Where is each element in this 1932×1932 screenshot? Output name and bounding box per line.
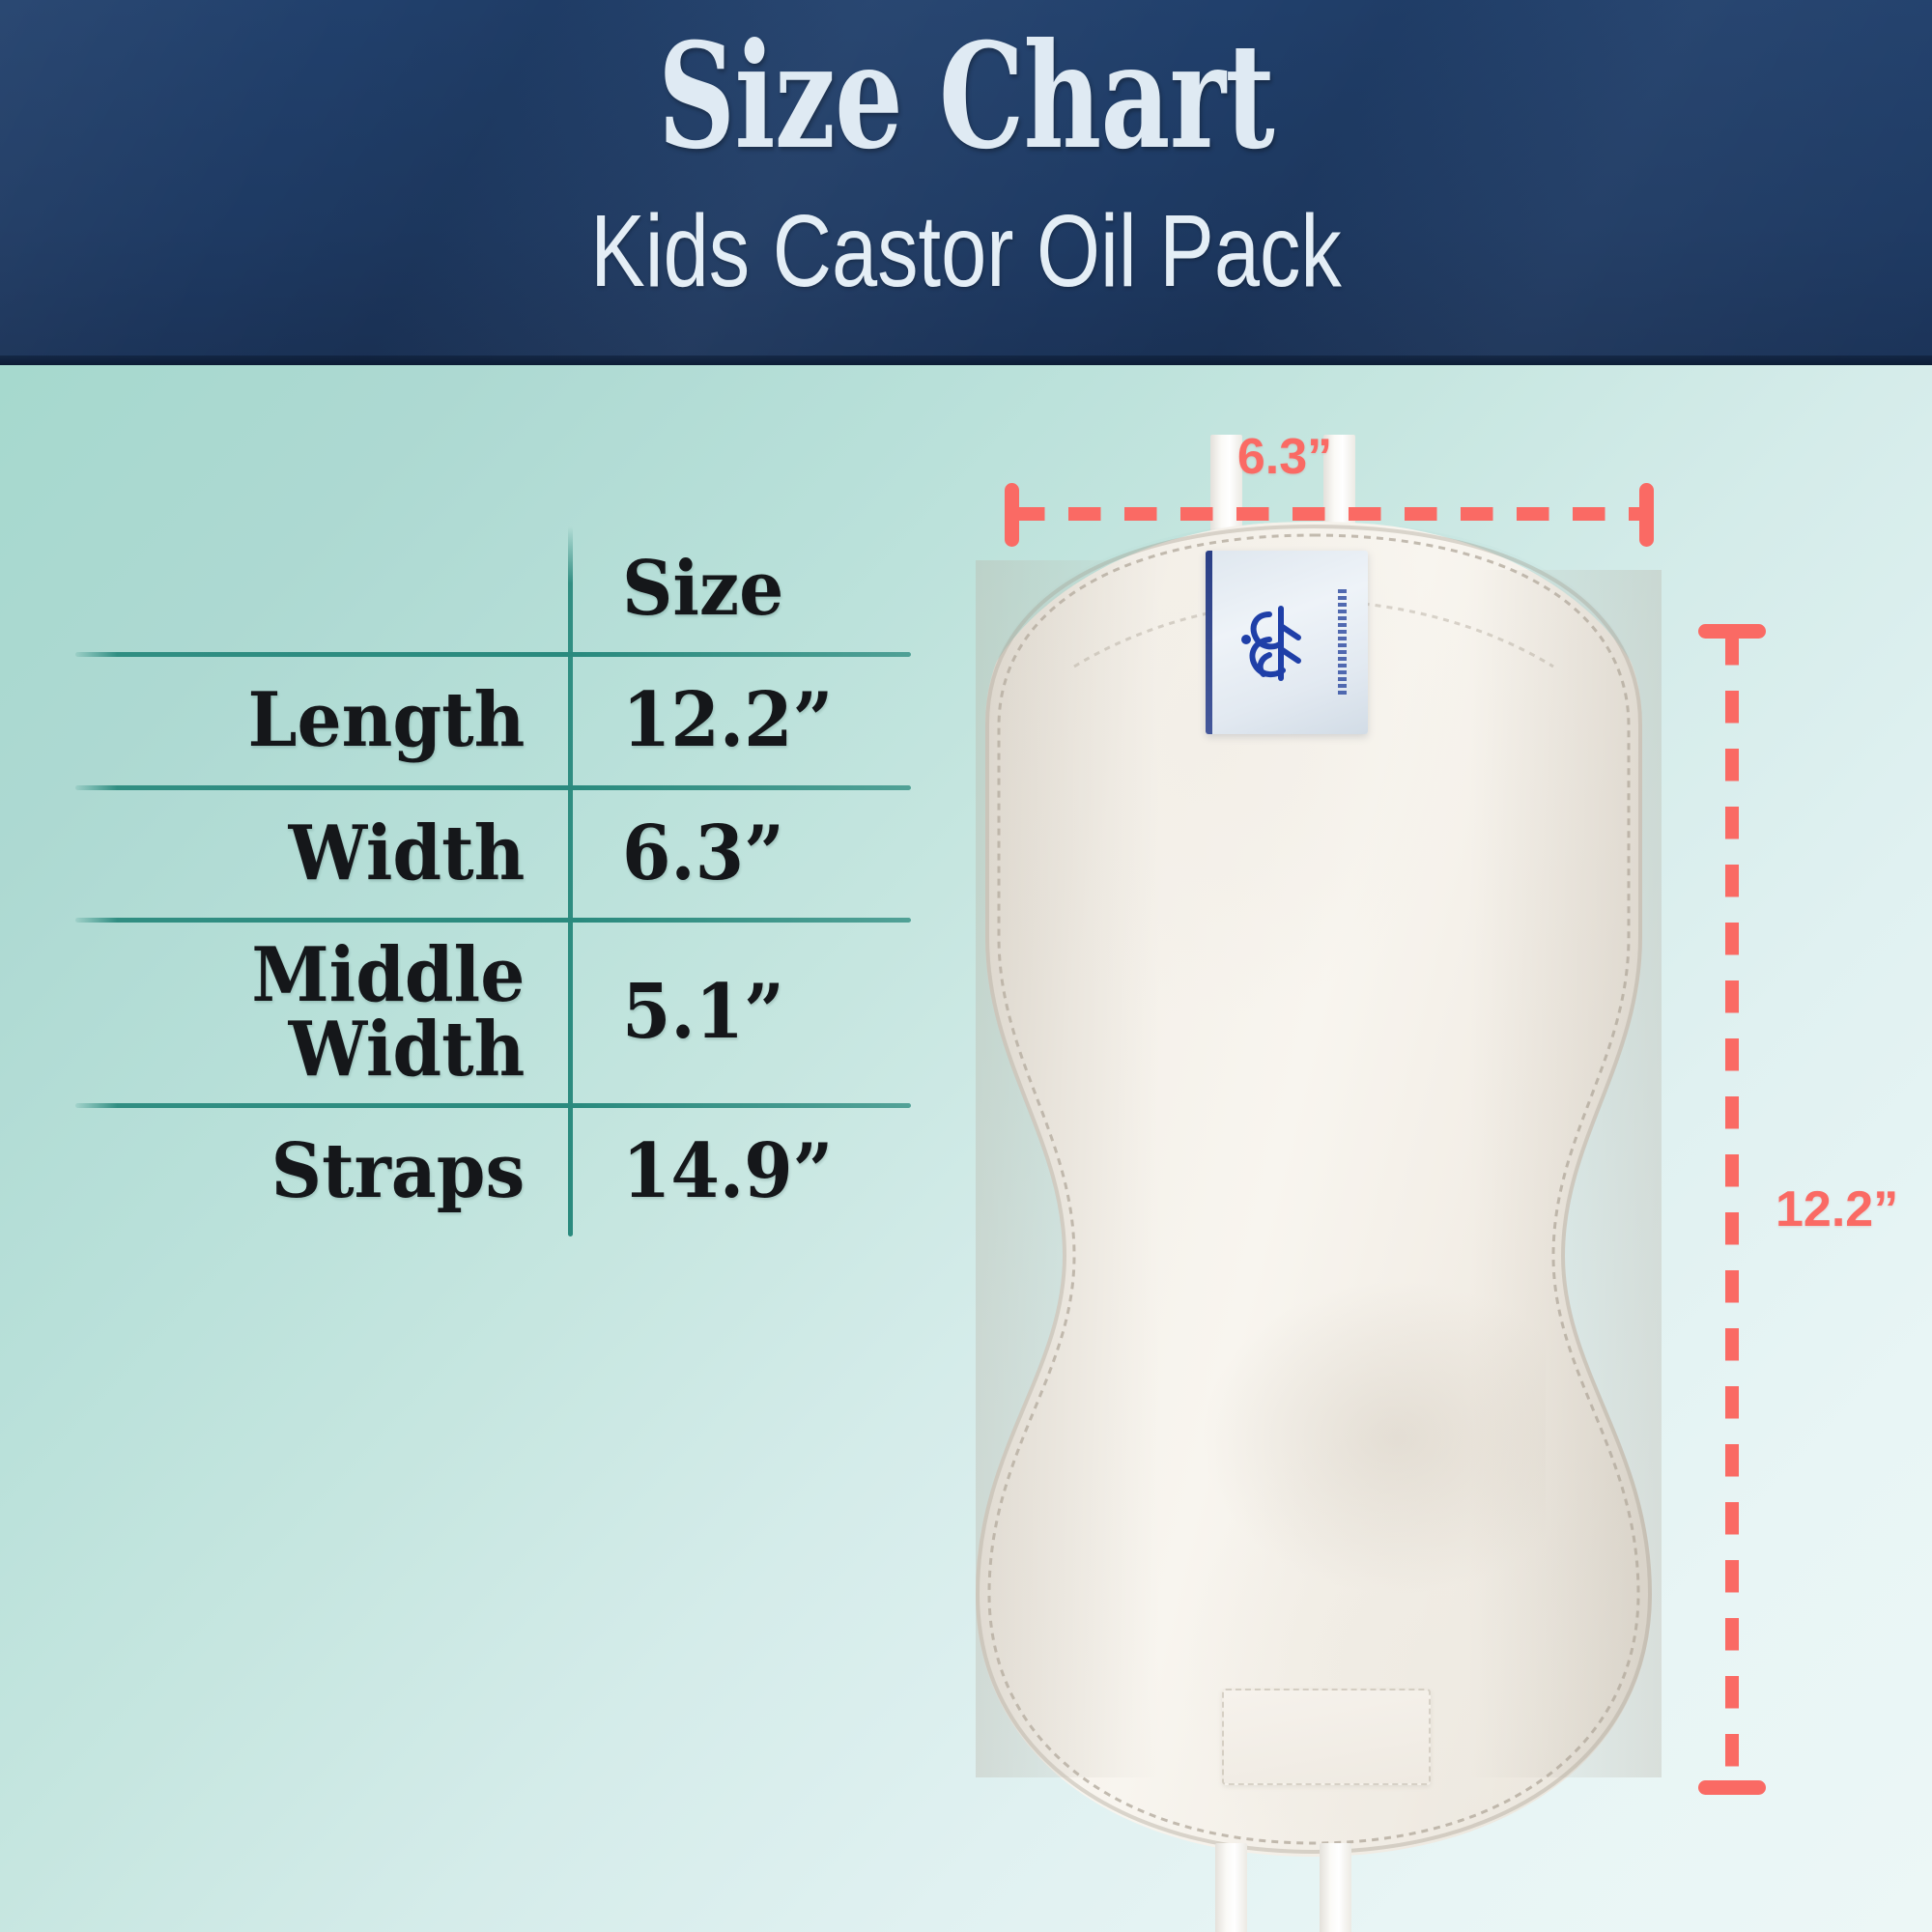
header-banner: Size Chart Kids Castor Oil Pack (0, 0, 1932, 365)
width-dimension-label: 6.3” (1237, 428, 1332, 486)
height-dimension-cap-bottom (1698, 1780, 1766, 1795)
label-line-2: Width (289, 1006, 526, 1094)
table-row-value-middle-width: 5.1” (570, 923, 889, 1103)
strap-bottom-left (1215, 1843, 1247, 1932)
table-row-value-width: 6.3” (570, 790, 889, 918)
table-row-label-width: Width (110, 790, 568, 918)
height-dimension-cap-top (1698, 624, 1766, 639)
strap-bottom-right (1320, 1843, 1351, 1932)
page-title: Size Chart (251, 23, 1681, 171)
size-table: Size Length 12.2” Width 6.3” Middle Widt… (75, 526, 911, 1236)
product-image (966, 425, 1662, 1932)
width-dimension-line (1012, 507, 1646, 521)
table-row-value-straps: 14.9” (570, 1108, 889, 1236)
table-column-header-size: Size (570, 526, 889, 652)
bottom-fabric-patch (1222, 1689, 1431, 1785)
page-subtitle: Kids Castor Oil Pack (193, 198, 1739, 305)
height-dimension-line (1725, 633, 1739, 1782)
table-row-label-middle-width: Middle Width (110, 923, 568, 1103)
crown-monogram-logo-icon (1231, 589, 1323, 697)
table-row-value-length: 12.2” (570, 657, 889, 785)
brand-label-microtext (1338, 589, 1347, 697)
brand-label-tag (1206, 551, 1368, 734)
table-row-label-length: Length (110, 657, 568, 785)
size-chart-page: Size Chart Kids Castor Oil Pack Size Len… (0, 0, 1932, 1932)
table-row-label-straps: Straps (110, 1108, 568, 1236)
height-dimension-label: 12.2” (1776, 1180, 1898, 1238)
width-dimension-cap-left (1005, 483, 1019, 547)
width-dimension-cap-right (1639, 483, 1654, 547)
